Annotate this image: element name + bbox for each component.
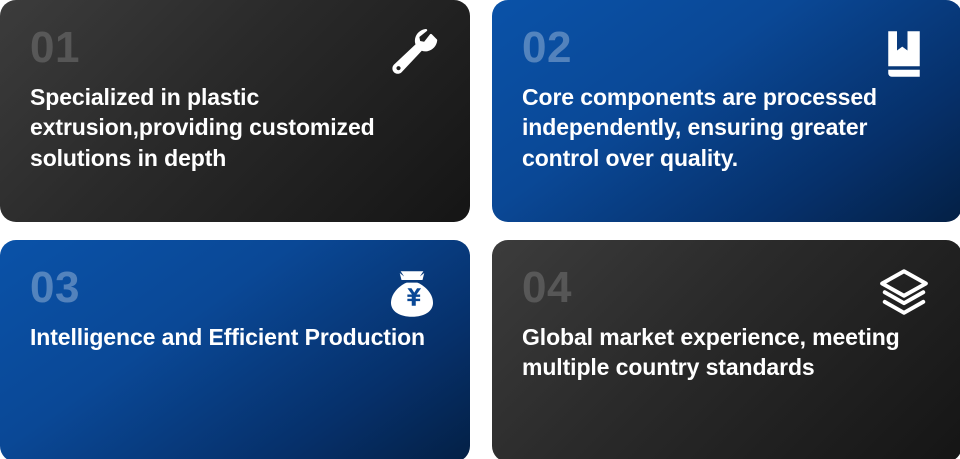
- card-text-01: Specialized in plastic extrusion,providi…: [30, 82, 440, 173]
- card-number-03: 03: [30, 266, 440, 310]
- feature-card-04[interactable]: 04 Global market experience, meeting mul…: [492, 240, 960, 459]
- feature-card-grid: 01 Specialized in plastic extrusion,prov…: [0, 0, 960, 459]
- feature-card-02[interactable]: 02 Core components are processed indepen…: [492, 0, 960, 222]
- feature-card-01[interactable]: 01 Specialized in plastic extrusion,prov…: [0, 0, 470, 222]
- card-number-04: 04: [522, 266, 932, 310]
- feature-card-03[interactable]: 03 Intelligence and Efficient Production: [0, 240, 470, 459]
- card-number-01: 01: [30, 26, 440, 70]
- card-text-03: Intelligence and Efficient Production: [30, 322, 440, 352]
- card-text-02: Core components are processed independen…: [522, 82, 932, 173]
- card-text-04: Global market experience, meeting multip…: [522, 322, 932, 383]
- card-number-02: 02: [522, 26, 932, 70]
